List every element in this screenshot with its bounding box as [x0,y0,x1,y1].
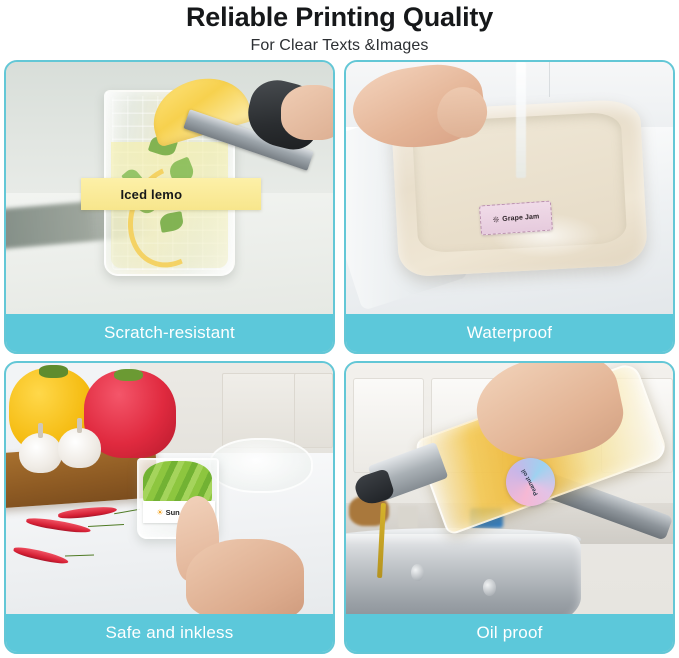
kitchen-cabinet [294,373,333,448]
product-label-peanut-oil: Peanut oil [506,458,555,506]
panel-caption-oil-proof: Oil proof [346,614,673,652]
page-title: Reliable Printing Quality [0,2,679,32]
panel-caption-safe-and-inkless: Safe and inkless [6,614,333,652]
feature-panel-safe-and-inkless[interactable]: ☀ Sun Safe and inkless [4,361,335,655]
label-text: Iced lemo [120,187,182,202]
page-subtitle: For Clear Texts &Images [0,35,679,57]
background-jar [398,506,418,529]
feature-panel-scratch-resistant[interactable]: Iced lemo Scratch-resistant [4,60,335,354]
photo-waterproof: ❊ Grape Jam [346,62,673,314]
label-text: Grape Jam [502,213,539,223]
panel-caption-scratch-resistant: Scratch-resistant [6,314,333,352]
feature-panel-oil-proof[interactable]: Peanut oil Oil proof [344,361,675,655]
infographic-page: Reliable Printing Quality For Clear Text… [0,0,679,658]
label-text: Sun [166,508,180,517]
garlic-tip [77,418,82,433]
garlic-tip [38,423,43,438]
product-label-grape-jam: ❊ Grape Jam [479,200,553,235]
label-text: Peanut oil [521,468,540,496]
pepper-stem [114,369,143,382]
hand [186,539,304,614]
photo-scratch-resistant: Iced lemo [6,62,333,314]
header: Reliable Printing Quality For Clear Text… [0,0,679,57]
photo-safe-and-inkless: ☀ Sun [6,363,333,615]
pepper-stem [39,365,68,378]
feature-panel-waterproof[interactable]: ❊ Grape Jam Waterproof [344,60,675,354]
product-label-iced-lemon: Iced lemo [81,178,261,211]
grape-cluster-icon: ❊ [492,215,499,224]
sun-icon: ☀ [156,508,163,517]
water-stream [516,62,526,178]
garlic-bulb [58,428,101,468]
feature-panel-grid: Iced lemo Scratch-resistant ❊ Grape Jam [4,60,675,654]
garlic-bulb [19,433,62,473]
container-lid [209,438,314,493]
photo-oil-proof: Peanut oil [346,363,673,615]
panel-caption-waterproof: Waterproof [346,314,673,352]
hand-gripping-knife [281,85,333,140]
